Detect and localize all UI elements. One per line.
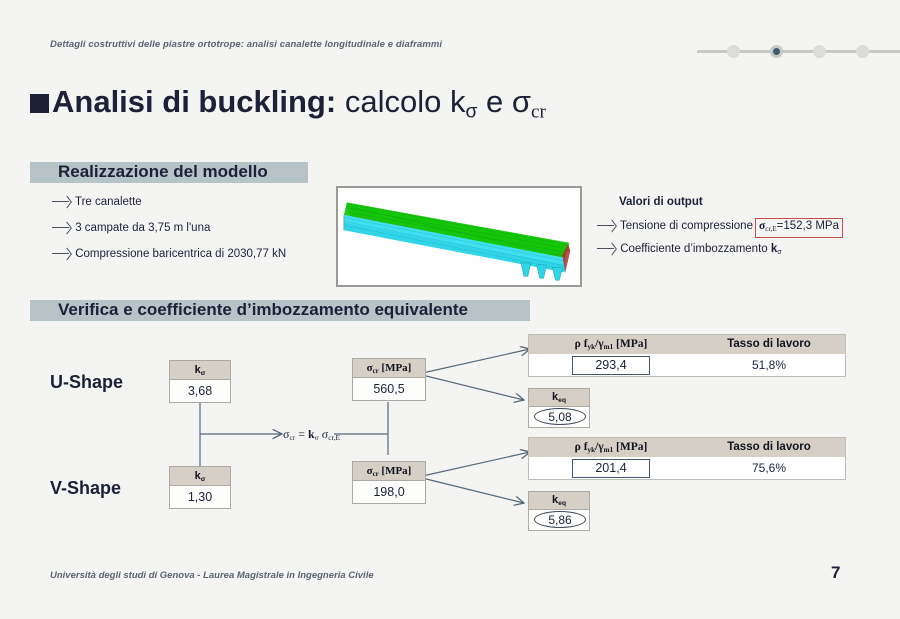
sigma-cr-box-u-value: 560,5 xyxy=(353,378,425,400)
result-table-u-header-row: ρ fyk/γm1 [MPa] Tasso di lavoro xyxy=(529,335,845,354)
progress-dot-4[interactable] xyxy=(856,45,869,58)
result-table-u-col1-header: ρ fyk/γm1 [MPa] xyxy=(529,335,693,354)
keq-box-u-value: 5,08 xyxy=(534,408,586,425)
result-table-v-data-row: 201,4 75,6% xyxy=(529,457,845,479)
sigma-cr-box-v: σcr [MPa] 198,0 xyxy=(352,461,426,504)
keq-box-v: keq 5,86 xyxy=(528,491,590,531)
page-title: Analisi di buckling: calcolo kσ e σcr xyxy=(52,82,546,132)
section1-label: Realizzazione del modello xyxy=(58,161,268,183)
output-bullet-1-label: Tensione di compressione xyxy=(620,220,753,232)
sigma-cr-box-v-header: σcr [MPa] xyxy=(353,462,425,481)
bullet-item-3: Compressione baricentrica di 2030,77 kN xyxy=(52,248,286,260)
section-heading-realizzazione: Realizzazione del modello xyxy=(30,162,308,183)
keq-box-u-value-wrap: 5,08 xyxy=(529,407,589,427)
section-heading-verifica: Verifica e coefficiente d’imbozzamento e… xyxy=(30,300,530,321)
output-bullet-2-label: Coefficiente d’imbozzamento xyxy=(620,243,767,255)
shape-label-u: U-Shape xyxy=(50,372,123,393)
formula-sigma-cr: σcr = kσ σcr,E xyxy=(283,427,340,442)
arrow-icon xyxy=(597,221,617,230)
k-sigma-box-v-value: 1,30 xyxy=(170,486,230,508)
result-table-v-col1-header: ρ fyk/γm1 [MPa] xyxy=(529,438,693,457)
output-heading: Valori di output xyxy=(619,196,703,208)
result-table-u-col2-header: Tasso di lavoro xyxy=(693,335,845,354)
result-table-v: ρ fyk/γm1 [MPa] Tasso di lavoro 201,4 75… xyxy=(528,437,846,480)
title-thin: calcolo xyxy=(345,84,442,119)
result-table-u: ρ fyk/γm1 [MPa] Tasso di lavoro 293,4 51… xyxy=(528,334,846,377)
title-marker-square xyxy=(30,94,49,113)
sigma-subscript: cr,E xyxy=(765,225,776,233)
bullet-1-label: Tre canalette xyxy=(75,196,142,208)
title-bold: Analisi di buckling: xyxy=(52,84,336,119)
bullet-3-label: Compressione baricentrica di 2030,77 kN xyxy=(75,248,286,260)
result-table-v-col1-value: 201,4 xyxy=(572,459,649,478)
title-symbol-sigma: σcr xyxy=(512,84,546,119)
keq-box-u: keq 5,08 xyxy=(528,388,590,428)
arrow-icon xyxy=(52,249,72,258)
shape-label-v: V-Shape xyxy=(50,478,121,499)
fem-model-image xyxy=(336,186,582,287)
k-sigma-box-u: kσ 3,68 xyxy=(169,360,231,403)
result-table-v-header-row: ρ fyk/γm1 [MPa] Tasso di lavoro xyxy=(529,438,845,457)
keq-box-v-value: 5,86 xyxy=(534,511,586,528)
keq-box-u-header: keq xyxy=(529,389,589,407)
slide-kicker: Dettagli costruttivi delle piastre ortot… xyxy=(50,39,442,50)
bullet-2-label: 3 campate da 3,75 m l'una xyxy=(75,222,210,234)
slide-root: Dettagli costruttivi delle piastre ortot… xyxy=(0,0,900,619)
arrow-icon xyxy=(52,223,72,232)
result-table-u-data-row: 293,4 51,8% xyxy=(529,354,845,376)
progress-indicator xyxy=(697,43,900,59)
sigma-value: =152,3 MPa xyxy=(777,220,839,232)
progress-dot-2-active[interactable] xyxy=(770,45,783,58)
result-table-u-col1-cell: 293,4 xyxy=(529,354,693,376)
sigma-cr-box-u-header: σcr [MPa] xyxy=(353,359,425,378)
bullet-item-1: Tre canalette xyxy=(52,196,142,208)
progress-dot-1[interactable] xyxy=(727,45,740,58)
sigma-cr-box-u: σcr [MPa] 560,5 xyxy=(352,358,426,401)
keq-box-v-header: keq xyxy=(529,492,589,510)
title-conjunction: e xyxy=(486,84,503,119)
arrow-icon xyxy=(52,197,72,206)
title-symbol-k: kσ xyxy=(450,84,477,119)
keq-box-v-value-wrap: 5,86 xyxy=(529,510,589,530)
k-sigma-box-v: kσ 1,30 xyxy=(169,466,231,509)
output-bullet-1: Tensione di compressioneσcr,E=152,3 MPa xyxy=(597,218,843,238)
result-table-v-col2-header: Tasso di lavoro xyxy=(693,438,845,457)
result-table-u-col2-value: 51,8% xyxy=(693,354,845,376)
result-table-v-col1-cell: 201,4 xyxy=(529,457,693,479)
arrow-icon xyxy=(597,244,617,253)
page-number: 7 xyxy=(831,563,840,583)
sigma-cr-e-highlight-box: σcr,E=152,3 MPa xyxy=(755,218,843,238)
result-table-u-col1-value: 293,4 xyxy=(572,356,649,375)
k-sigma-box-u-value: 3,68 xyxy=(170,380,230,402)
bullet-item-2: 3 campate da 3,75 m l'una xyxy=(52,222,210,234)
k-sigma-box-v-header: kσ xyxy=(170,467,230,486)
result-table-v-col2-value: 75,6% xyxy=(693,457,845,479)
k-sigma-subscript: σ xyxy=(777,248,781,256)
k-sigma-box-u-header: kσ xyxy=(170,361,230,380)
sigma-cr-box-v-value: 198,0 xyxy=(353,481,425,503)
slide-footer: Università degli studi di Genova - Laure… xyxy=(50,570,374,581)
progress-dot-3[interactable] xyxy=(813,45,826,58)
fem-model-drawing xyxy=(338,188,580,285)
output-bullet-2: Coefficiente d’imbozzamento kσ xyxy=(597,243,782,256)
section2-label: Verifica e coefficiente d’imbozzamento e… xyxy=(58,299,468,321)
